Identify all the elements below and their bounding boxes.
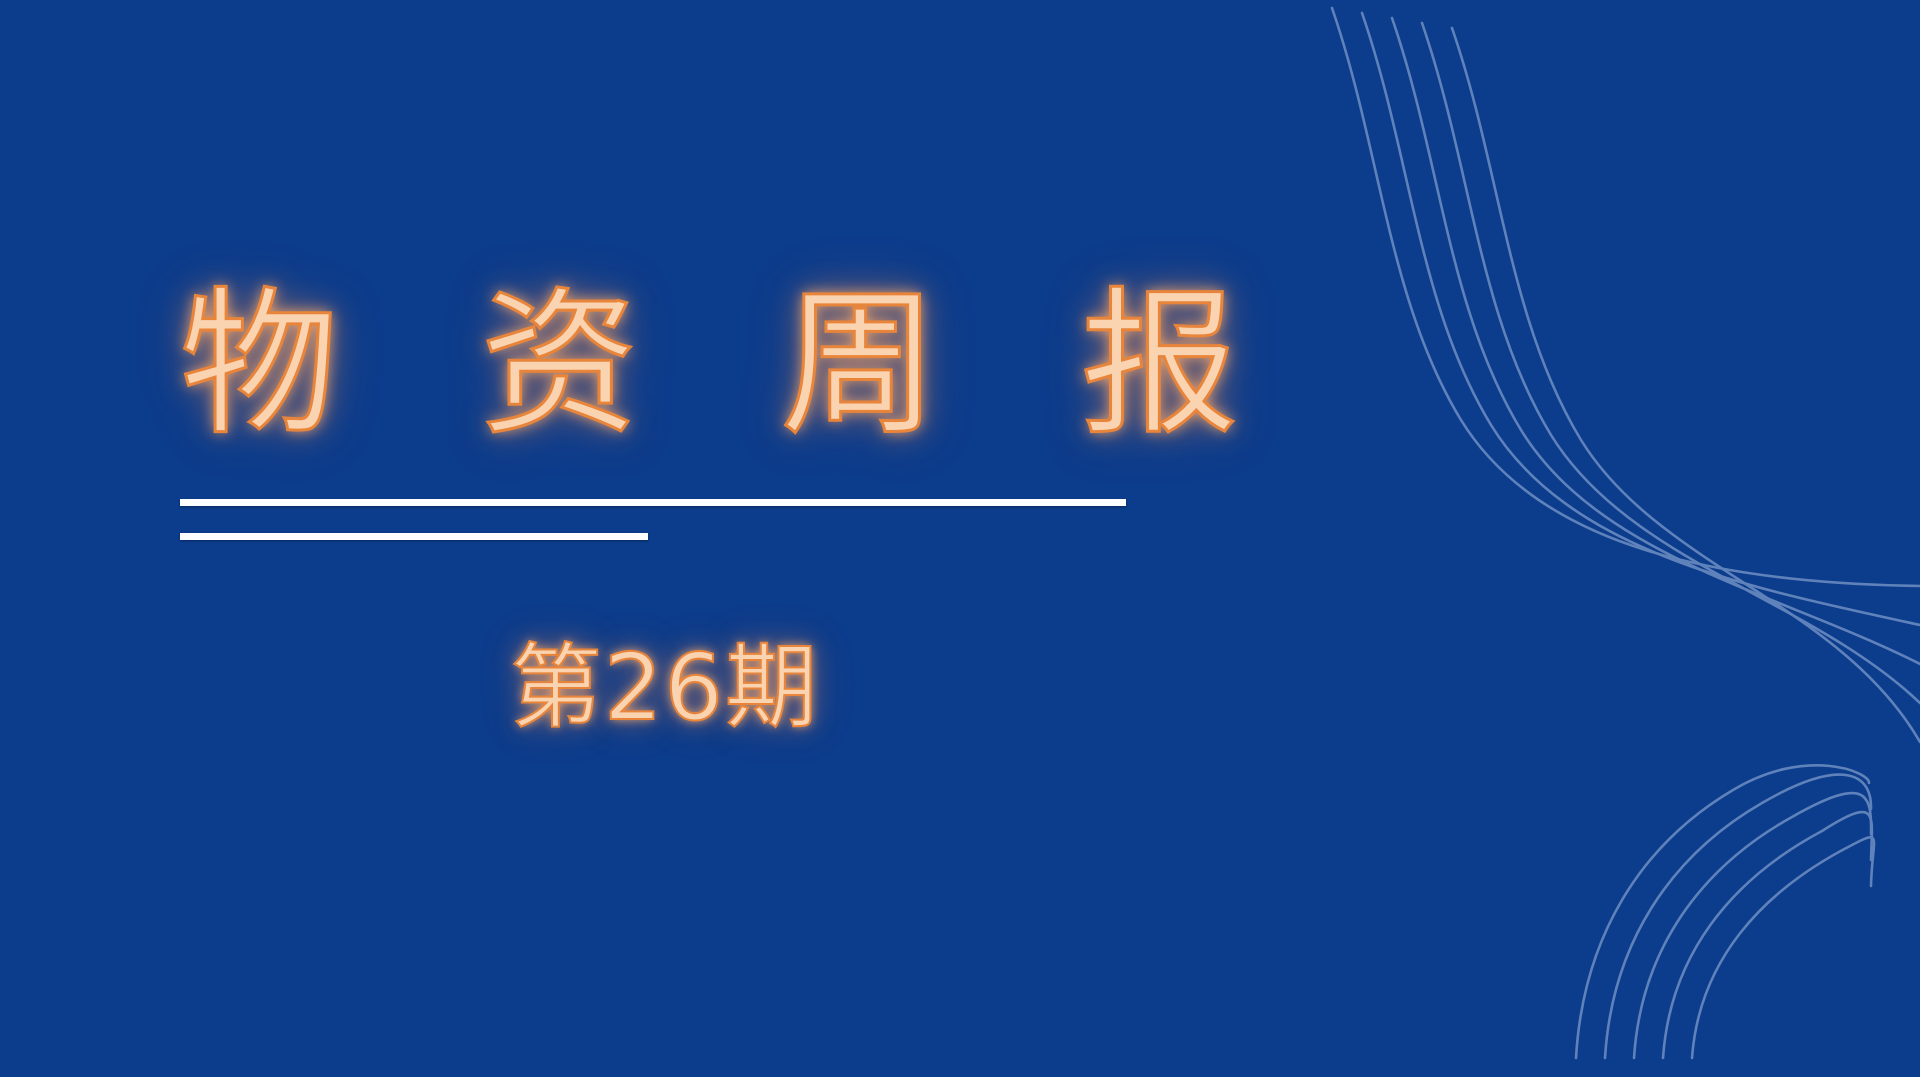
page-title: 物 资 周 报 bbox=[180, 286, 1140, 444]
issue-subtitle: 第26期 bbox=[510, 637, 819, 738]
title-underline-short bbox=[180, 533, 648, 540]
title-block: 物 资 周 报 第26期 bbox=[0, 0, 1920, 1077]
cover-slide: 物 资 周 报 第26期 bbox=[0, 0, 1920, 1077]
title-underline-long bbox=[180, 499, 1126, 506]
